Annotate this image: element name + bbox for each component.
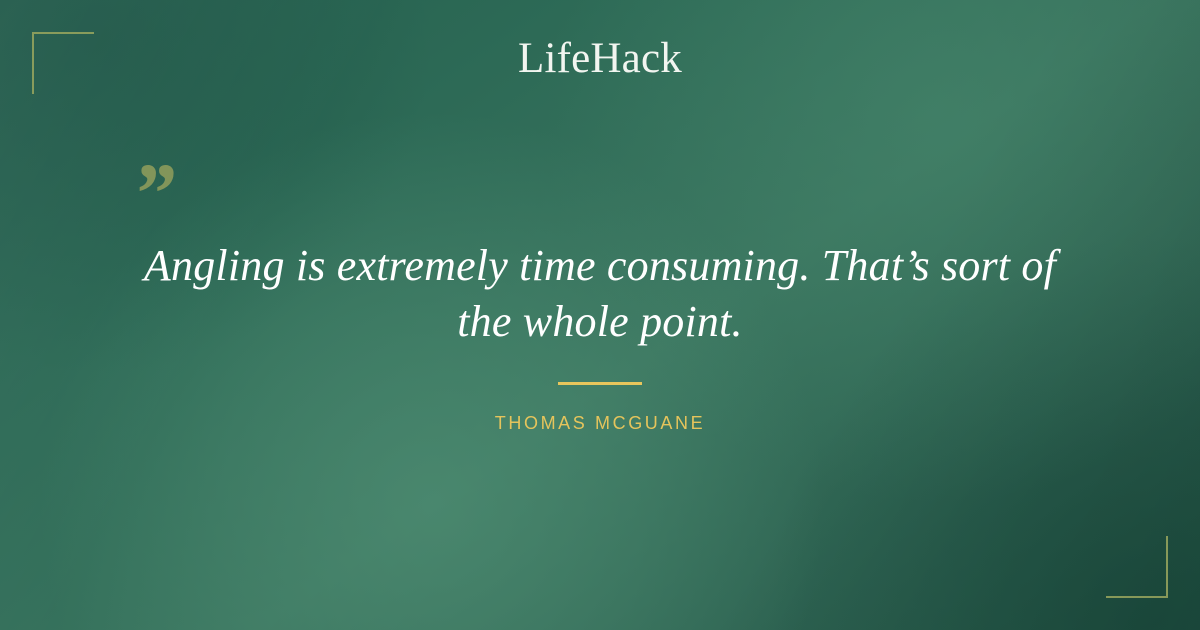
quote-card: LifeHack ” Angling is extremely time con…: [0, 0, 1200, 630]
corner-bracket-bottom-right-icon: [1106, 536, 1168, 598]
divider-rule: [558, 382, 642, 385]
quote-author: THOMAS MCGUANE: [0, 413, 1200, 434]
quote-text: Angling is extremely time consuming. Tha…: [130, 238, 1070, 351]
quotation-mark-icon: ”: [132, 150, 175, 236]
brand-logo: LifeHack: [0, 37, 1200, 80]
